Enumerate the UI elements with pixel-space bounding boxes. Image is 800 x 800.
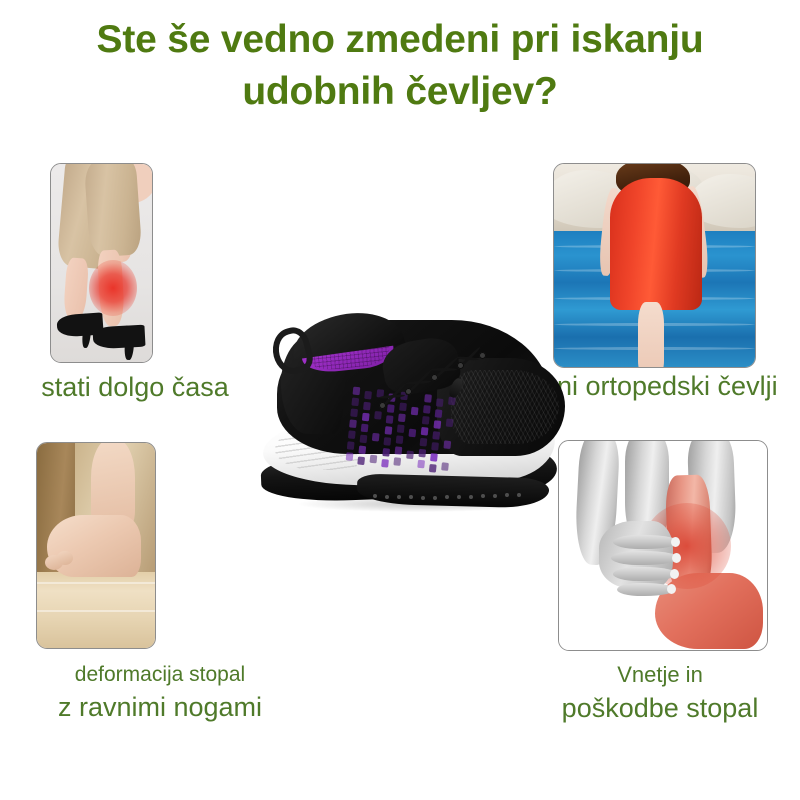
knit-dot	[381, 459, 389, 468]
tread-stud	[421, 496, 425, 500]
tread-stud	[457, 495, 461, 499]
photo-card-standing	[50, 163, 153, 363]
wooden-floor	[37, 572, 155, 648]
knit-dot	[348, 430, 356, 439]
caption-standing: stati dolgo časa	[10, 371, 260, 404]
lace-eyelet	[379, 402, 386, 409]
caption-flatfoot-line-2: z ravnimi nogami	[0, 691, 320, 724]
tread-stud	[445, 495, 449, 499]
knit-dot	[397, 424, 405, 433]
fingernail	[672, 553, 681, 563]
knit-dot	[429, 464, 437, 473]
shoe-laces	[375, 344, 485, 420]
knit-dot	[441, 462, 449, 471]
page-headline: Ste še vedno zmedeni pri iskanju udobnih…	[0, 14, 800, 118]
knit-dot	[430, 453, 438, 462]
knit-dot	[346, 452, 354, 461]
foot-shape	[47, 515, 141, 577]
floor-gloss	[37, 582, 155, 584]
knit-dot	[421, 427, 429, 436]
knit-dot	[364, 391, 372, 400]
knit-dot	[431, 442, 439, 451]
knit-dot	[362, 413, 370, 422]
knit-dot	[408, 429, 416, 438]
knit-dot	[418, 449, 426, 458]
pain-highlight	[89, 260, 137, 316]
knit-dot	[393, 457, 401, 466]
tread-stud	[481, 494, 485, 498]
caption-inflammation: Vnetje in poškodbe stopal	[520, 662, 800, 725]
knit-dot	[370, 455, 378, 464]
photo-standing-ankle-pain	[51, 164, 152, 362]
knit-dot	[361, 424, 369, 433]
knit-dot	[383, 437, 391, 446]
photo-card-flatfoot	[36, 442, 156, 649]
knit-dot	[360, 435, 368, 444]
knit-dot	[382, 448, 390, 457]
tread-stud	[373, 494, 377, 498]
tread-stud	[469, 495, 473, 499]
knit-dot	[406, 451, 414, 460]
headline-line-2: udobnih čevljev?	[0, 66, 800, 118]
tread-stud	[433, 496, 437, 500]
photo-flat-foot	[37, 443, 155, 648]
knit-dot	[396, 435, 404, 444]
knit-dot	[363, 402, 371, 411]
shoe-right-vamp	[92, 325, 145, 350]
knit-dot	[433, 420, 441, 429]
tread-stud	[505, 493, 509, 497]
floor-gloss	[37, 610, 155, 612]
knit-dot	[350, 408, 358, 417]
photo-woman-red-dress	[554, 164, 755, 367]
knit-dot	[372, 433, 380, 442]
tread-stud	[385, 495, 389, 499]
caption-flatfoot-line-1: deformacija stopal	[75, 663, 245, 686]
lace-eyelet	[479, 352, 486, 359]
trousers-right	[84, 164, 143, 258]
leg-shape	[638, 302, 664, 367]
toe-shape	[57, 551, 73, 565]
knit-dot	[420, 438, 428, 447]
photo-inflamed-ankle	[559, 441, 767, 650]
fingernail	[667, 584, 676, 594]
product-image-sneaker: «	[255, 300, 575, 545]
caption-flatfoot: deformacija stopal z ravnimi nogami	[0, 662, 320, 724]
knit-dot	[357, 456, 365, 465]
red-dress	[610, 178, 702, 310]
photo-card-inflammation	[558, 440, 768, 651]
knit-dot	[395, 446, 403, 455]
caption-inflammation-line-1: Vnetje in	[617, 662, 703, 687]
shoe-tread-studs	[373, 493, 533, 499]
knit-dot	[349, 419, 357, 428]
knit-dot	[358, 446, 366, 455]
lace-eyelet	[431, 374, 438, 381]
lace-eyelet	[405, 388, 412, 395]
knit-dot	[432, 431, 440, 440]
photo-card-walking	[553, 163, 756, 368]
tread-stud	[409, 495, 413, 499]
knit-dot	[417, 460, 425, 469]
fingernail	[671, 537, 680, 547]
knit-dot	[443, 440, 451, 449]
knit-dot	[353, 387, 361, 396]
tread-stud	[493, 494, 497, 498]
headline-line-1: Ste še vedno zmedeni pri iskanju	[0, 14, 800, 66]
fingernail	[670, 569, 679, 579]
tread-stud	[397, 495, 401, 499]
caption-inflammation-line-2: poškodbe stopal	[520, 692, 800, 725]
finger	[611, 551, 679, 565]
lace-eyelet	[457, 362, 464, 369]
finger	[613, 567, 677, 581]
finger	[613, 535, 679, 549]
knit-dot	[347, 441, 355, 450]
tread-stud	[517, 493, 521, 497]
knit-dot	[385, 426, 393, 435]
knit-dot	[351, 398, 359, 407]
